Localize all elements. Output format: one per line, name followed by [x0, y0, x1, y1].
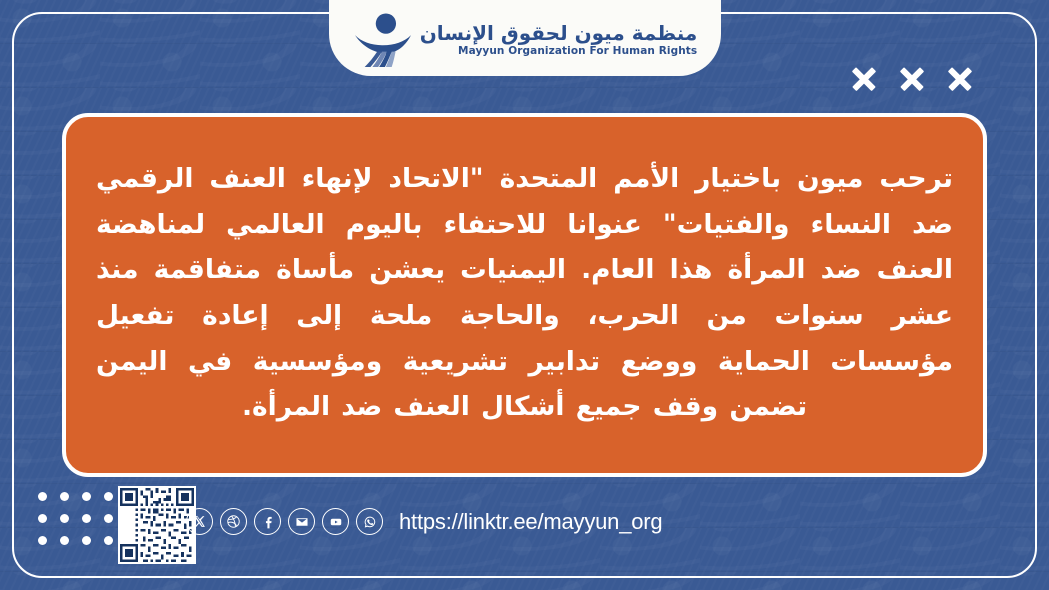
org-name-arabic: منظمة ميون لحقوق الإنسان — [420, 23, 698, 43]
dot — [60, 492, 69, 501]
x-mark-icon — [899, 66, 925, 92]
statement-card: منظمة ميون لحقوق الإنسان Mayyun Organiza… — [0, 0, 1049, 590]
youtube-icon[interactable] — [322, 508, 349, 535]
org-name-english: Mayyun Organization For Human Rights — [458, 46, 697, 57]
x-decoration-group — [851, 66, 973, 92]
qr-code-icon — [120, 488, 194, 562]
dot — [104, 536, 113, 545]
x-twitter-icon[interactable] — [186, 508, 213, 535]
x-mark-icon — [947, 66, 973, 92]
dot — [104, 492, 113, 501]
dot — [38, 514, 47, 523]
dot — [82, 536, 91, 545]
dot-grid-decoration — [38, 492, 126, 558]
social-links-row: https://linktr.ee/mayyun_org — [186, 508, 662, 535]
header-banner: منظمة ميون لحقوق الإنسان Mayyun Organiza… — [329, 0, 721, 76]
dot — [60, 514, 69, 523]
dot — [38, 536, 47, 545]
x-mark-icon — [851, 66, 877, 92]
dot — [38, 492, 47, 501]
statement-body-text: ترحب ميون باختيار الأمم المتحدة "الاتحاد… — [66, 150, 983, 439]
organization-logo: منظمة ميون لحقوق الإنسان Mayyun Organiza… — [352, 8, 698, 68]
dot — [104, 514, 113, 523]
email-icon[interactable] — [288, 508, 315, 535]
dot — [82, 492, 91, 501]
dot — [82, 514, 91, 523]
website-url[interactable]: https://linktr.ee/mayyun_org — [399, 509, 662, 535]
footer: https://linktr.ee/mayyun_org — [0, 480, 1049, 590]
whatsapp-icon[interactable] — [356, 508, 383, 535]
statement-box: ترحب ميون باختيار الأمم المتحدة "الاتحاد… — [62, 113, 987, 477]
dot — [60, 536, 69, 545]
logo-text-block: منظمة ميون لحقوق الإنسان Mayyun Organiza… — [420, 23, 698, 57]
qr-code[interactable] — [118, 486, 196, 564]
dribbble-icon[interactable] — [220, 508, 247, 535]
facebook-icon[interactable] — [254, 508, 281, 535]
mayyun-logo-icon — [352, 12, 414, 68]
